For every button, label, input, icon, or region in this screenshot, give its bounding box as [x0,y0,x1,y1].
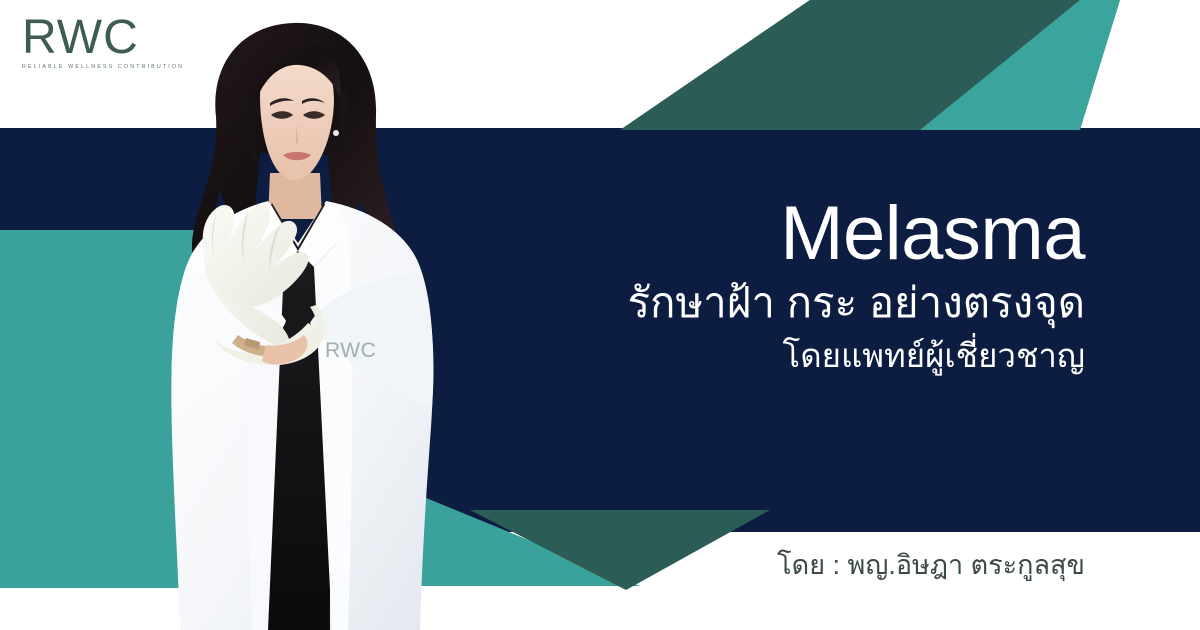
rwc-logo: RWC Reliable Wellness Contribution [22,14,162,70]
subtitle-secondary: โดยแพทย์ผู้เชี่ยวชาญ [628,330,1086,382]
rwc-logo-wordmark: RWC [22,14,162,62]
rwc-logo-tagline: Reliable Wellness Contribution [22,64,162,70]
coat-rwc-embroidery: RWC [325,339,376,362]
subtitle-primary: รักษาฝ้า กระ อย่างตรงจุด [628,276,1086,330]
doctor-portrait-image: RWC [120,5,470,630]
page-title: Melasma [628,192,1086,276]
headline-block: Melasma รักษาฝ้า กระ อย่างตรงจุด โดยแพทย… [628,192,1086,382]
doctor-byline: โดย : พญ.อิษฎา ตระกูลสุข [777,548,1085,582]
melasma-promo-banner: RWC Reliable Wellness Contribution [0,0,1200,630]
